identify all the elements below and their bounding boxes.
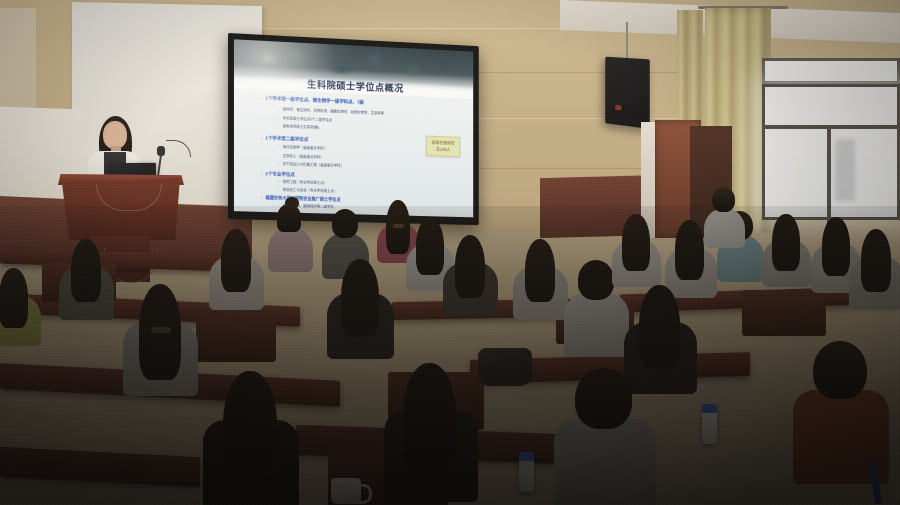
foreground-shadow bbox=[0, 206, 900, 505]
lecture-hall-photograph: 生科院硕士学位点概况 1个学术型一级学位点、微生物学一级学科点、7届 植物学、微… bbox=[0, 0, 900, 505]
